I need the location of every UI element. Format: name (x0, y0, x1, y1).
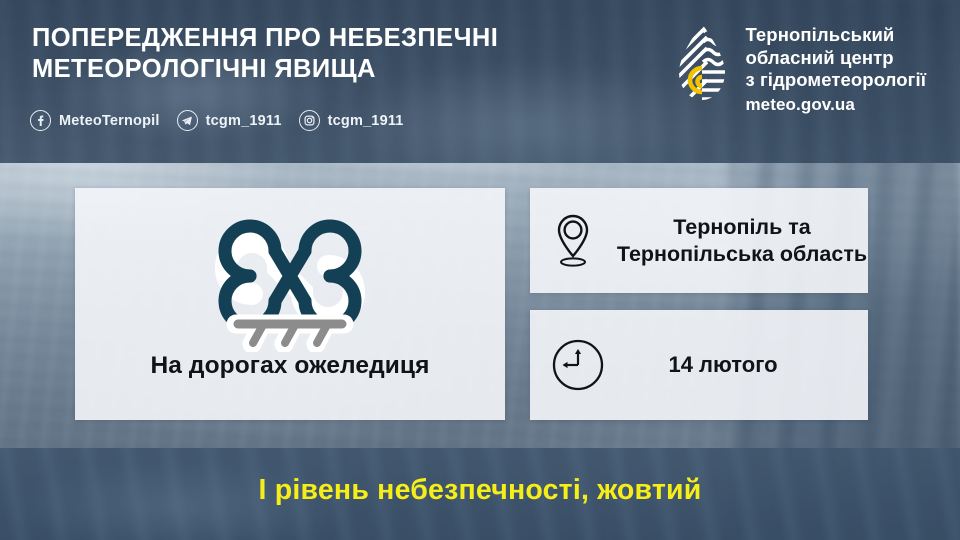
date-card: 14 лютого (530, 310, 868, 420)
clock-icon (550, 337, 606, 393)
facebook-icon (30, 110, 51, 131)
logo-website-url: meteo.gov.ua (745, 94, 926, 116)
logo-line-1: Тернопільський (745, 24, 926, 47)
location-line-1: Тернопіль та (592, 214, 892, 241)
footer-band: І рівень небезпечності, жовтий (0, 448, 960, 540)
phenomenon-card: На дорогах ожеледиця (75, 188, 505, 420)
organization-logo: Тернопільський обласний центр з гідромет… (673, 22, 926, 116)
social-link-telegram[interactable]: tcgm_1911 (177, 110, 282, 131)
date-value: 14 лютого (600, 352, 846, 378)
telegram-icon (177, 110, 198, 131)
weather-warning-poster: ПОПЕРЕДЖЕННЯ ПРО НЕБЕЗПЕЧНІ МЕТЕОРОЛОГІЧ… (0, 0, 960, 540)
header-band: ПОПЕРЕДЖЕННЯ ПРО НЕБЕЗПЕЧНІ МЕТЕОРОЛОГІЧ… (0, 0, 960, 163)
location-line-2: Тернопільська область (592, 241, 892, 268)
telegram-handle: tcgm_1911 (206, 113, 282, 129)
instagram-icon (299, 110, 320, 131)
social-link-facebook[interactable]: MeteoTernopil (30, 110, 160, 131)
social-links: MeteoTernopil tcgm_1911 (30, 110, 404, 131)
logo-line-3: з гідрометеорології (745, 69, 926, 92)
map-pin-icon (550, 211, 596, 271)
facebook-handle: MeteoTernopil (59, 113, 160, 129)
black-ice-road-icon (75, 212, 505, 352)
social-link-instagram[interactable]: tcgm_1911 (299, 110, 404, 131)
logo-wordmark: Тернопільський обласний центр з гідромет… (745, 22, 926, 116)
location-text: Тернопіль та Тернопільська область (592, 214, 892, 268)
logo-line-2: обласний центр (745, 47, 926, 70)
page-title-line-1: ПОПЕРЕДЖЕННЯ ПРО НЕБЕЗПЕЧНІ (32, 23, 612, 54)
water-drop-logo-icon (673, 22, 731, 104)
instagram-handle: tcgm_1911 (328, 113, 404, 129)
page-title-line-2: МЕТЕОРОЛОГІЧНІ ЯВИЩА (32, 54, 612, 85)
page-title: ПОПЕРЕДЖЕННЯ ПРО НЕБЕЗПЕЧНІ МЕТЕОРОЛОГІЧ… (32, 23, 612, 85)
phenomenon-label: На дорогах ожеледиця (75, 352, 505, 380)
location-card: Тернопіль та Тернопільська область (530, 188, 868, 293)
danger-level-text: І рівень небезпечності, жовтий (0, 474, 960, 507)
